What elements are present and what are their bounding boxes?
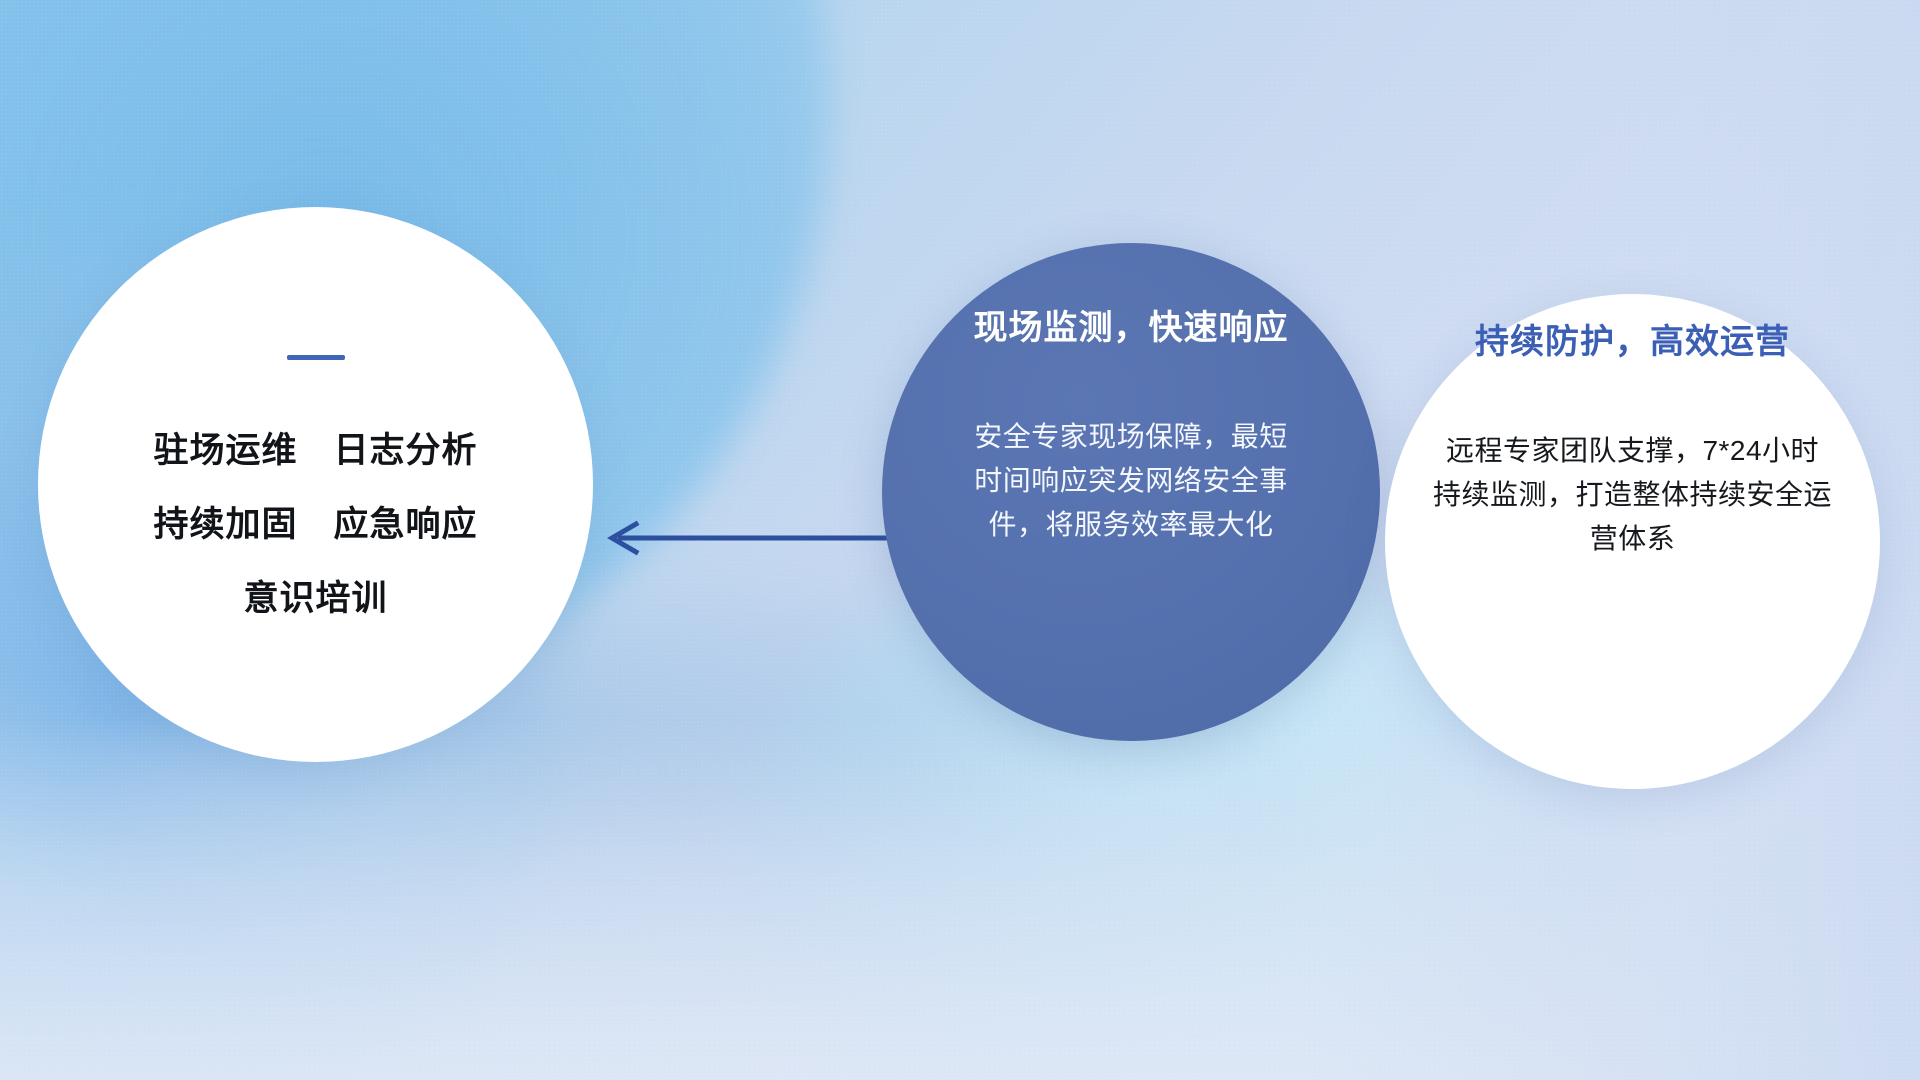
keyword-item: 持续加固 [153,496,297,547]
capability-circle-right[interactable]: 持续防护，高效运营 远程专家团队支撑，7*24小时持续监测，打造整体持续安全运营… [1385,294,1880,789]
circle-title: 持续防护，高效运营 [1421,314,1844,363]
capability-circle-left-content: 驻场运维 日志分析 持续加固 应急响应 意识培训 [38,355,593,621]
keyword-item: 驻场运维 [153,422,297,473]
divider-dash [287,355,345,360]
slide-canvas: 驻场运维 日志分析 持续加固 应急响应 意识培训 现场监测，快速响应 安全专家现… [0,0,1920,1080]
keyword-item: 意识培训 [82,570,549,621]
circle-body: 远程专家团队支撑，7*24小时持续监测，打造整体持续安全运营体系 [1433,429,1833,562]
circle-body: 安全专家现场保障，最短时间响应突发网络安全事件，将服务效率最大化 [966,415,1296,548]
arrow-mid-to-left [596,518,896,558]
arrow-left-icon [596,518,896,558]
capability-circle-right-content: 持续防护，高效运营 远程专家团队支撑，7*24小时持续监测，打造整体持续安全运营… [1385,314,1880,562]
keyword-row: 持续加固 应急响应 [82,496,549,547]
keyword-item: 应急响应 [334,496,478,547]
circle-title: 现场监测，快速响应 [920,300,1342,349]
capability-circle-left[interactable]: 驻场运维 日志分析 持续加固 应急响应 意识培训 [38,207,593,762]
capability-circle-middle-content: 现场监测，快速响应 安全专家现场保障，最短时间响应突发网络安全事件，将服务效率最… [882,300,1380,548]
capability-circle-middle[interactable]: 现场监测，快速响应 安全专家现场保障，最短时间响应突发网络安全事件，将服务效率最… [882,243,1380,741]
keyword-item: 日志分析 [334,422,478,473]
keyword-row: 驻场运维 日志分析 [82,422,549,473]
